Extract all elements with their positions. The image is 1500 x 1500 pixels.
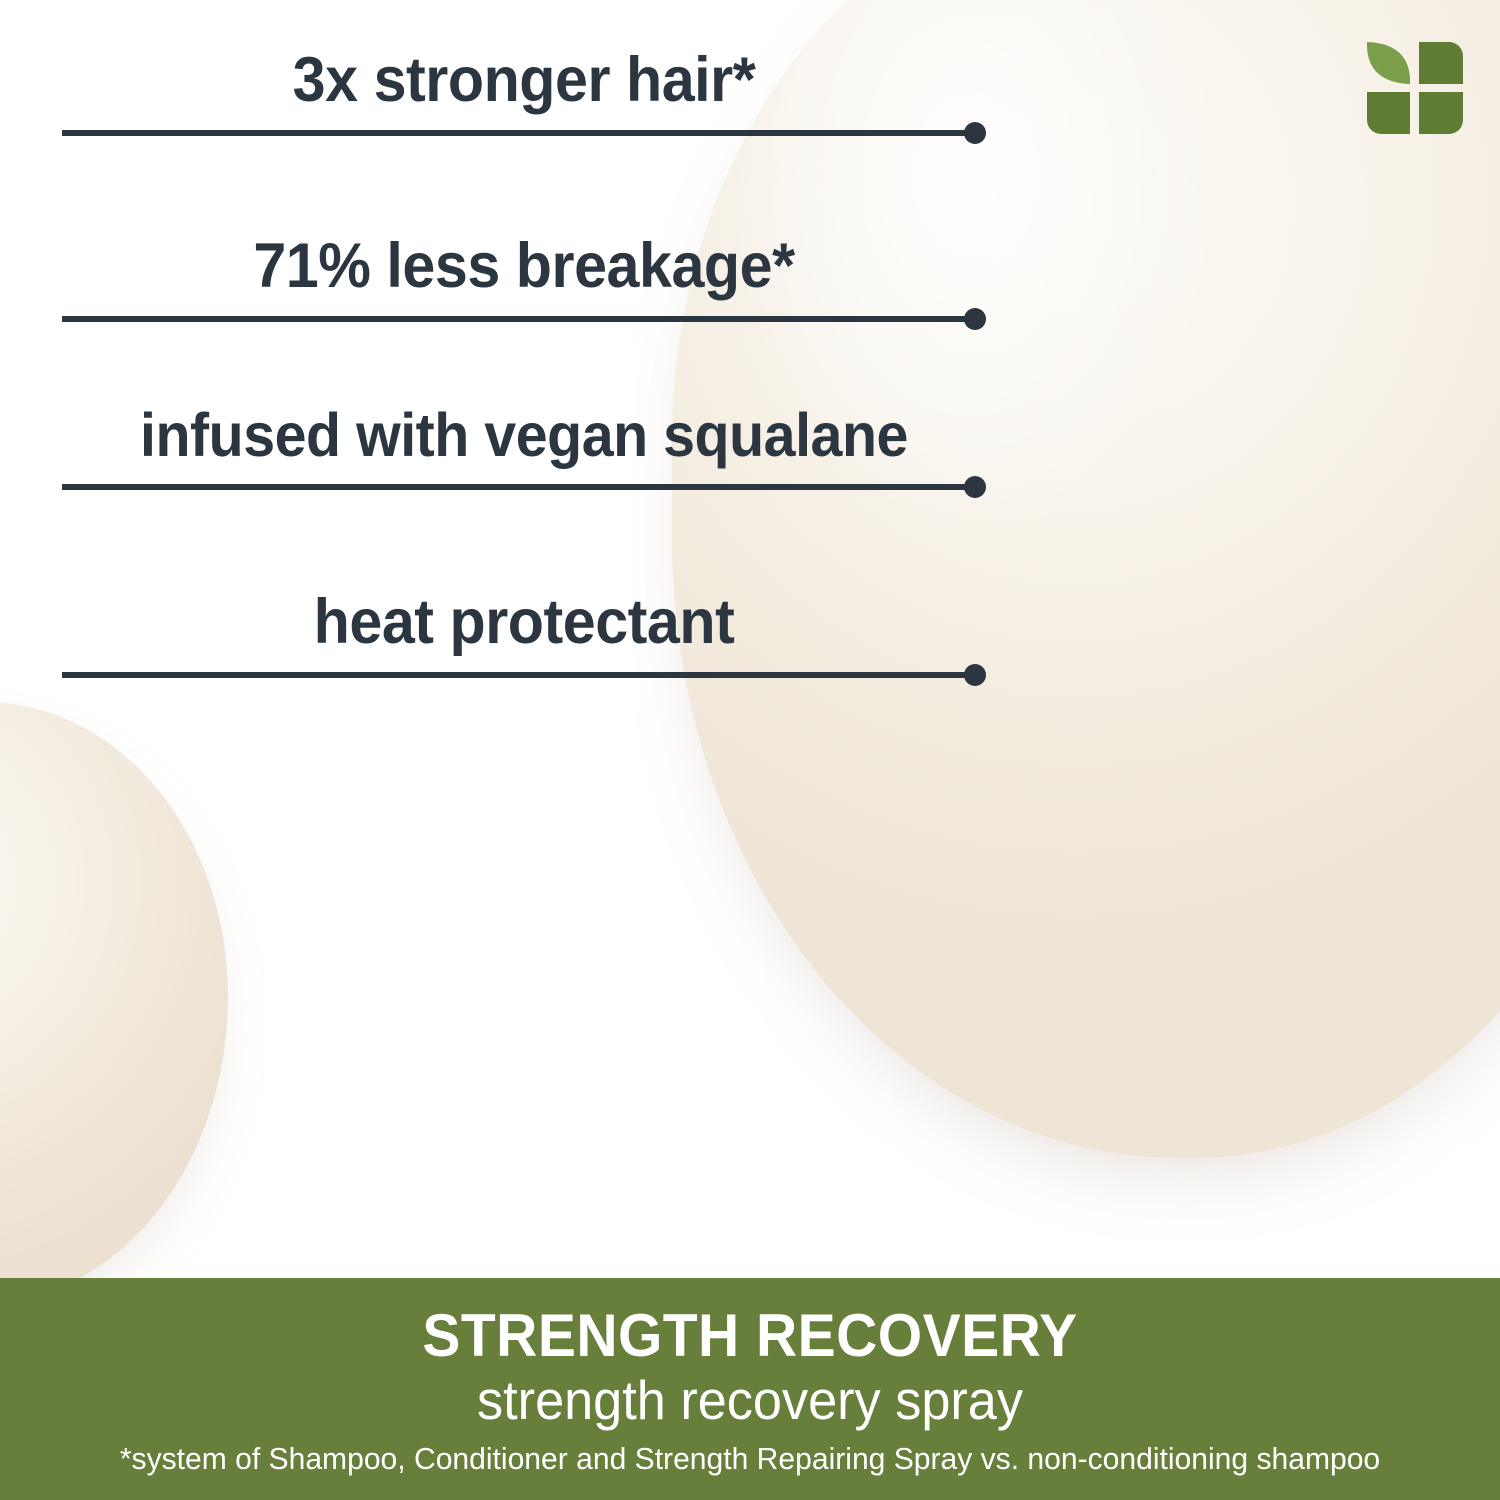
rule-endpoint-dot-icon (964, 664, 986, 686)
benefit-claim-rule (62, 122, 986, 144)
rule-endpoint-dot-icon (964, 308, 986, 330)
benefit-claim-rule (62, 308, 986, 330)
rule-line (62, 130, 975, 136)
rule-line (62, 484, 975, 490)
product-name-subtitle: strength recovery spray (38, 1366, 1463, 1430)
product-benefits-graphic: 3x stronger hair* 71% less breakage* inf… (0, 0, 1500, 1500)
benefit-claim-row: infused with vegan squalane (62, 404, 986, 498)
product-name-footer: STRENGTH RECOVERY strength recovery spra… (0, 1278, 1500, 1500)
rule-endpoint-dot-icon (964, 476, 986, 498)
rule-endpoint-dot-icon (964, 122, 986, 144)
benefit-claim-rule (62, 476, 986, 498)
benefit-claim-row: 3x stronger hair* (62, 48, 986, 144)
brand-logo (1363, 38, 1466, 138)
decorative-blob-layer (0, 0, 1500, 1500)
footnote-disclaimer: *system of Shampoo, Conditioner and Stre… (23, 1430, 1478, 1476)
benefit-claim-text: heat protectant (90, 590, 959, 654)
benefit-claim-text: 71% less breakage* (90, 234, 959, 298)
product-line-title: STRENGTH RECOVERY (38, 1278, 1463, 1366)
benefit-claim-row: 71% less breakage* (62, 234, 986, 330)
rule-line (62, 316, 975, 322)
rule-line (62, 672, 975, 678)
cream-blob-large (672, 0, 1500, 1158)
benefit-claim-rule (62, 664, 986, 686)
benefit-claim-row: heat protectant (62, 590, 986, 686)
benefit-claim-text: 3x stronger hair* (90, 48, 959, 112)
leaf-squares-logo-icon (1367, 42, 1463, 134)
cream-blob-small (0, 702, 228, 1302)
benefit-claim-text: infused with vegan squalane (90, 404, 959, 466)
